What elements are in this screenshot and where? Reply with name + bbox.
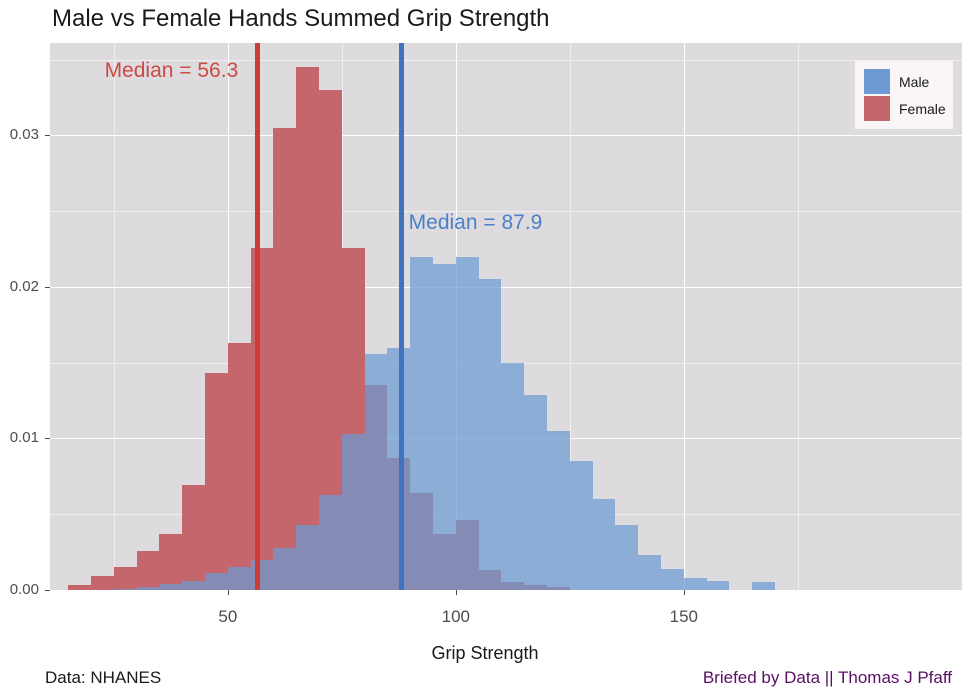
x-tick-label: 50 <box>198 608 258 625</box>
x-axis: 50100150 <box>0 0 970 697</box>
x-tick-label: 100 <box>426 608 486 625</box>
chart-figure: Male vs Female Hands Summed Grip Strengt… <box>0 0 970 697</box>
caption-credit: Briefed by Data || Thomas J Pfaff <box>703 668 952 688</box>
x-tick-mark <box>456 590 457 595</box>
x-tick-label: 150 <box>654 608 714 625</box>
x-tick-mark <box>228 590 229 595</box>
x-tick-mark <box>684 590 685 595</box>
caption-data-source: Data: NHANES <box>45 668 161 688</box>
x-axis-title: Grip Strength <box>0 643 970 664</box>
